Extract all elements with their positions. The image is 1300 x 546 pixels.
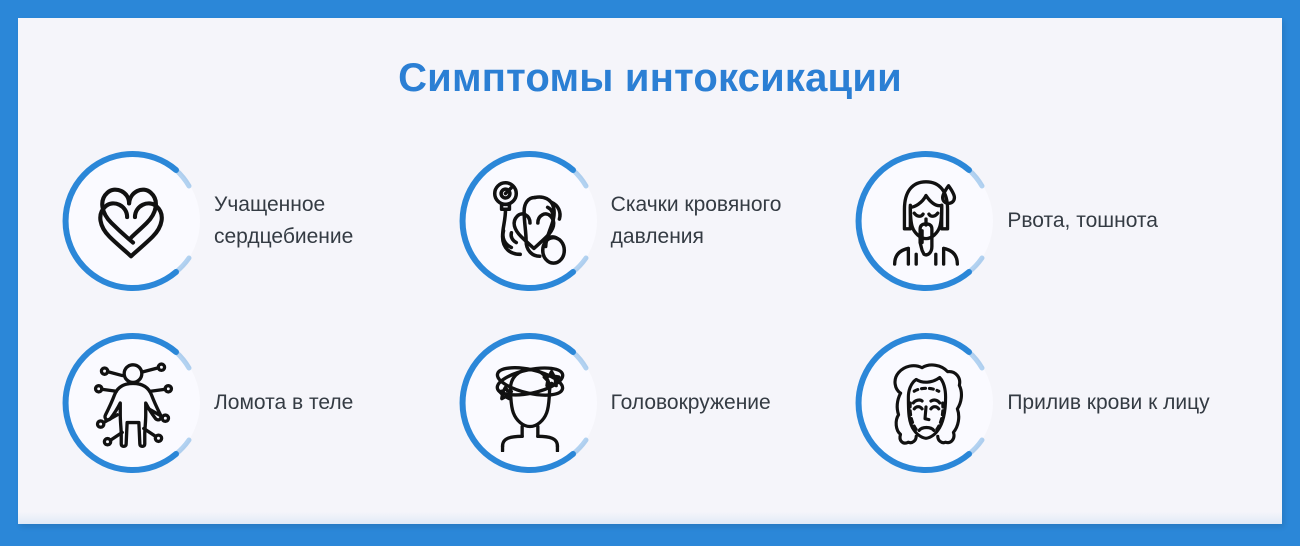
symptom-badge (58, 146, 208, 296)
symptom-badge (455, 146, 605, 296)
symptom-badge (851, 328, 1001, 478)
symptom-badge (455, 328, 605, 478)
double-heart-icon (84, 172, 182, 270)
symptom-item-blood-pressure-spikes: Скачки кровяного давления (455, 130, 852, 312)
symptom-item-body-aches: Ломота в теле (58, 312, 455, 494)
page-title: Симптомы интоксикации (18, 56, 1282, 100)
symptom-label: Головокружение (611, 387, 771, 419)
symptom-item-dizziness: Головокружение (455, 312, 852, 494)
symptom-badge (58, 328, 208, 478)
dizzy-head-icon (481, 354, 579, 452)
body-pain-points-icon (84, 354, 182, 452)
symptom-item-vomiting-nausea: Рвота, тошнота (851, 130, 1248, 312)
symptom-label: Учащенное сердцебиение (214, 189, 353, 253)
symptom-item-facial-flushing: Прилив крови к лицу (851, 312, 1248, 494)
symptom-label: Ломота в теле (214, 387, 353, 419)
blood-pressure-monitor-icon (481, 172, 579, 270)
outer-blue-frame: Симптомы интоксикации (0, 0, 1300, 546)
symptom-item-rapid-heartbeat: Учащенное сердцебиение (58, 130, 455, 312)
flushed-face-icon (877, 354, 975, 452)
symptom-label: Скачки кровяного давления (611, 189, 782, 253)
nausea-person-icon (877, 172, 975, 270)
symptoms-grid: Учащенное сердцебиение (58, 130, 1248, 494)
content-panel: Симптомы интоксикации (18, 18, 1282, 524)
symptom-label: Рвота, тошнота (1007, 205, 1158, 237)
symptom-badge (851, 146, 1001, 296)
symptom-label: Прилив крови к лицу (1007, 387, 1209, 419)
